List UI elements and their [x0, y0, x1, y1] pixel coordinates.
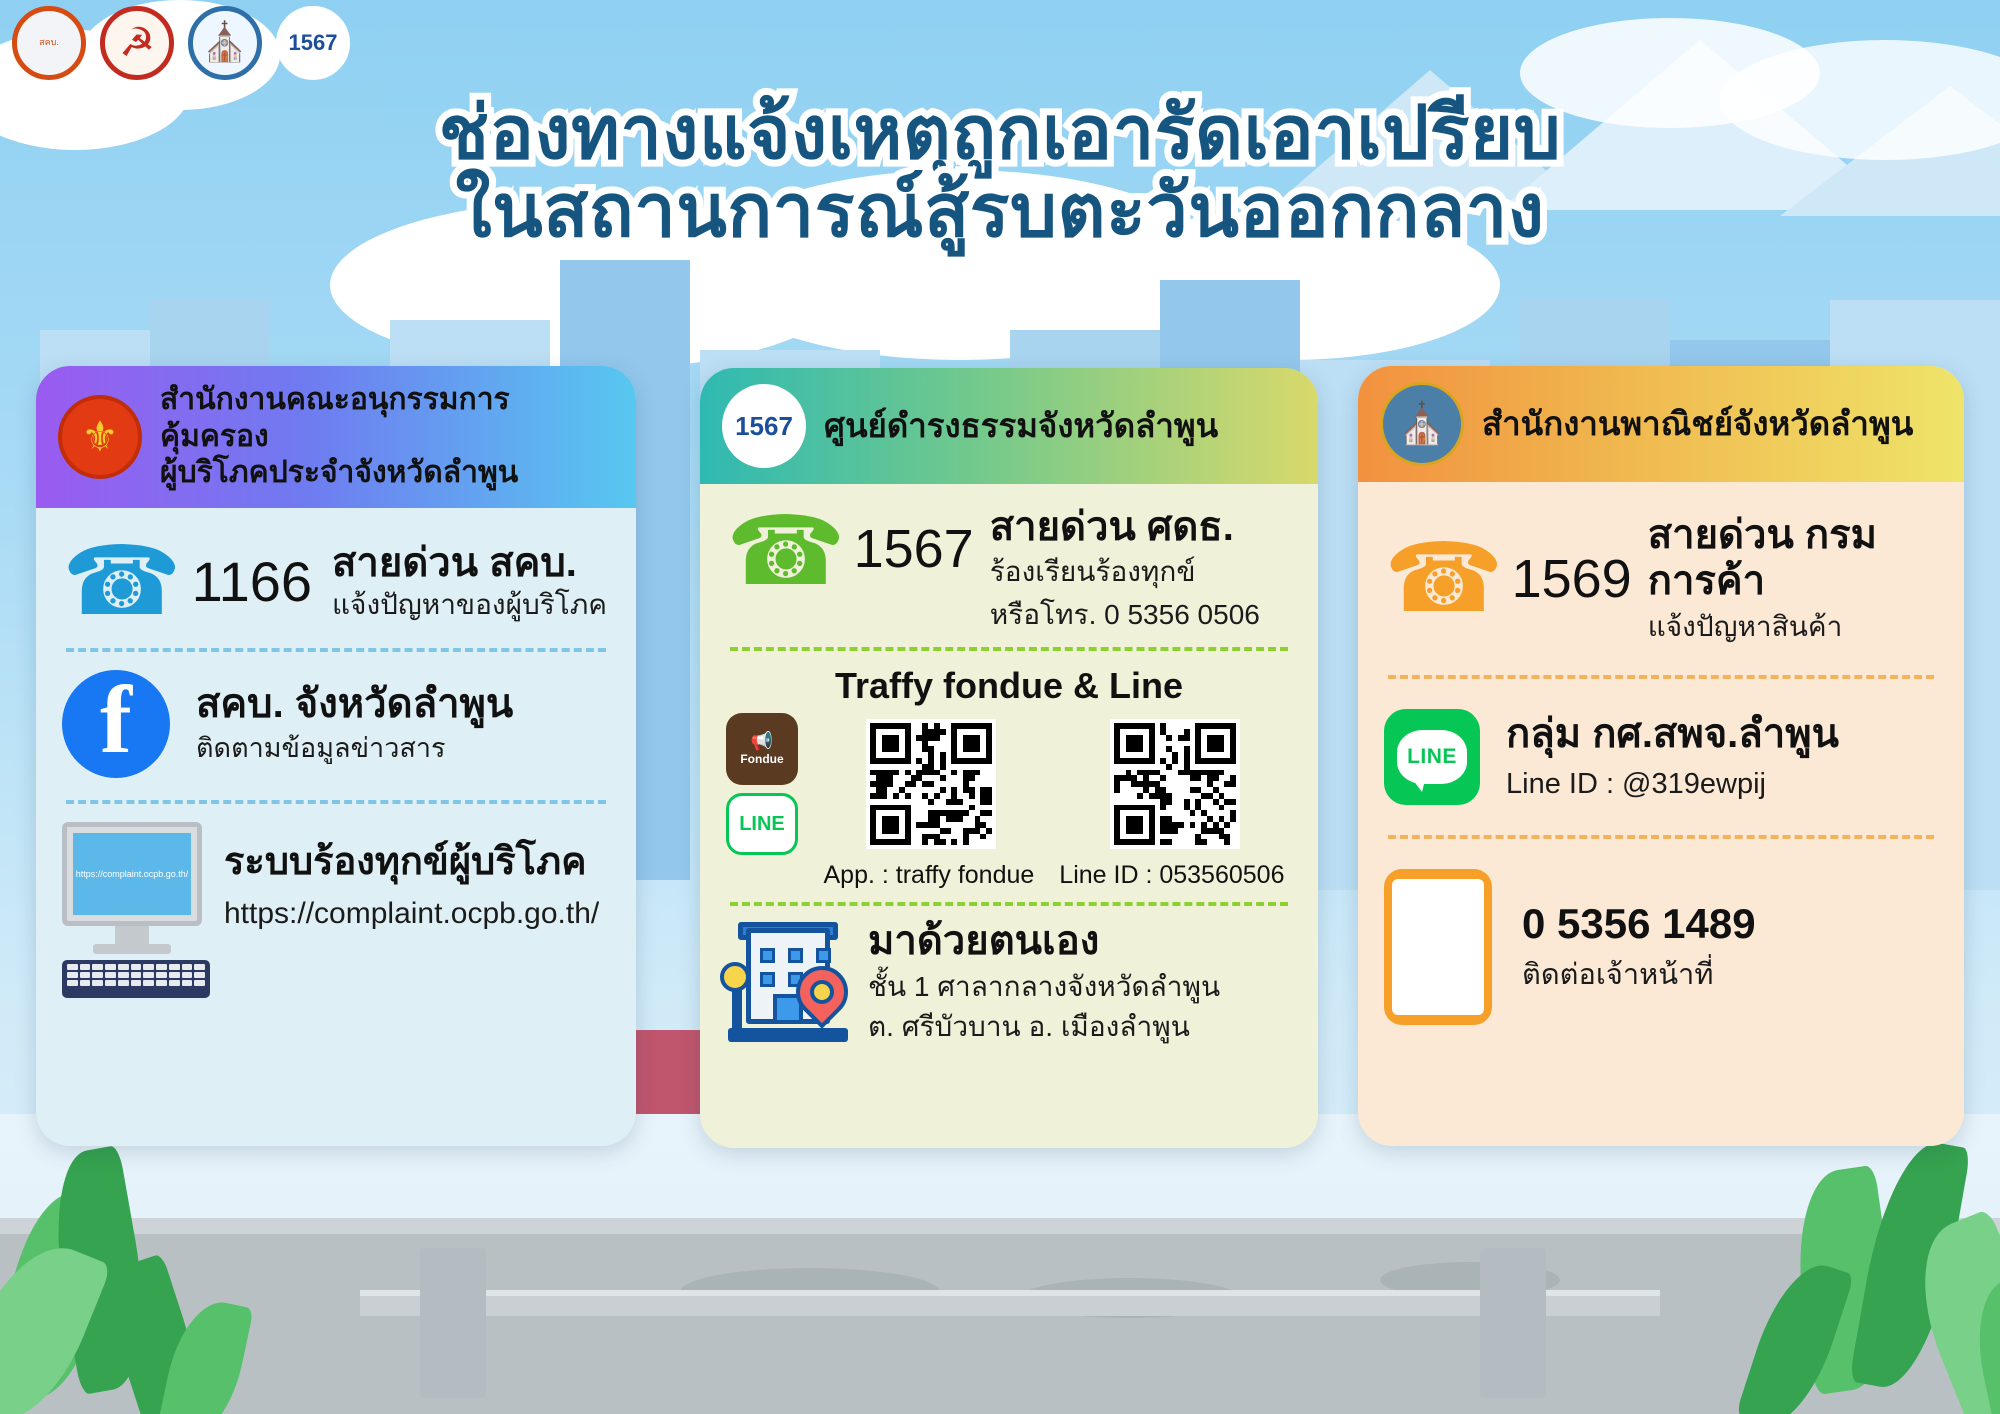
card-commerce-divider-2 — [1388, 835, 1934, 839]
damrongtham-hotline-sub2: หรือโทร. 0 5356 0506 — [990, 597, 1292, 633]
ocpb-website-row[interactable]: https://complaint.ocpb.go.th/ ระบบร้องทุ… — [62, 822, 610, 998]
line-app-icon: LINE — [726, 793, 798, 855]
card-commerce-title: สำนักงานพาณิชย์จังหวัดลำพูน — [1482, 404, 1913, 444]
ocpb-hotline-text: สายด่วน สคบ. แจ้งปัญหาของผู้บริโภค — [332, 540, 610, 623]
garuda-red-seal-logo: ☭ — [100, 6, 174, 80]
card-commerce-title-line-1: สำนักงานพาณิชย์จังหวัดลำพูน — [1482, 404, 1913, 444]
damrongtham-traffy-head: Traffy fondue & Line — [726, 665, 1292, 707]
card-damrongtham-body: ☎ 1567 สายด่วน ศดธ. ร้องเรียนร้องทุกข์ ห… — [700, 484, 1318, 1065]
card-commerce[interactable]: ⛪ สำนักงานพาณิชย์จังหวัดลำพูน ☎ 1569 สาย… — [1358, 366, 1964, 1146]
damrongtham-1567-logo-label: 1567 — [289, 31, 338, 54]
ocpb-website-text: ระบบร้องทุกข์ผู้บริโภค https://complaint… — [224, 822, 610, 933]
damrongtham-hotline-sub: ร้องเรียนร้องทุกข์ — [990, 554, 1292, 590]
card-ocpb-header: ⚜ สำนักงานคณะอนุกรรมการคุ้มครอง ผู้บริโภ… — [36, 366, 636, 508]
card-damrongtham-divider-2 — [730, 902, 1288, 906]
line-app-icon: LINE — [1384, 709, 1480, 805]
damrongtham-traffy-row[interactable]: Traffy fondue & Line 📢 Fondue LINE — [726, 665, 1292, 890]
ocpb-seal-logo-label: สคบ. — [39, 38, 59, 47]
ocpb-seal-icon: ⚜ — [58, 395, 142, 479]
ocpb-hotline-sub: แจ้งปัญหาของผู้บริโภค — [332, 587, 610, 623]
agency-logo-row: สคบ. ☭ ⛪ 1567 — [12, 6, 350, 80]
card-damrongtham[interactable]: 1567 ศูนย์ดำรงธรรมจังหวัดลำพูน ☎ 1567 สา… — [700, 368, 1318, 1148]
commerce-line-row[interactable]: LINE กลุ่ม กศ.สพจ.ลำพูน Line ID : @319ew… — [1384, 709, 1938, 805]
card-damrongtham-header: 1567 ศูนย์ดำรงธรรมจังหวัดลำพูน — [700, 368, 1318, 484]
damrongtham-walkin-sub: ชั้น 1 ศาลากลางจังหวัดลำพูน — [868, 969, 1292, 1005]
traffy-app-icons: 📢 Fondue LINE — [726, 713, 798, 855]
road-surface — [0, 1234, 2000, 1414]
guard-rail-post — [1480, 1248, 1546, 1398]
commerce-hotline-row[interactable]: ☎ 1569 สายด่วน กรมการค้า แจ้งปัญหาสินค้า — [1384, 512, 1938, 645]
commerce-hotline-head: สายด่วน กรมการค้า — [1648, 512, 1938, 605]
commerce-line-id: Line ID : @319ewpij — [1506, 766, 1938, 804]
guard-rail-bar — [360, 1290, 1660, 1316]
garuda-glyph-icon: ☭ — [119, 23, 155, 63]
mobile-phone-icon — [1384, 869, 1492, 1025]
commerce-hotline-text: สายด่วน กรมการค้า แจ้งปัญหาสินค้า — [1648, 512, 1938, 645]
damrongtham-hotline-head: สายด่วน ศดธ. — [990, 504, 1292, 550]
facebook-icon — [62, 670, 170, 778]
commerce-hotline-number: 1569 — [1512, 548, 1632, 610]
traffy-fondue-icon: 📢 Fondue — [726, 713, 798, 785]
monitor-screen-url: https://complaint.ocpb.go.th/ — [73, 833, 191, 915]
phone-handset-icon: ☎ — [1384, 531, 1504, 627]
ocpb-website-head: ระบบร้องทุกข์ผู้บริโภค — [224, 840, 610, 884]
card-commerce-header: ⛪ สำนักงานพาณิชย์จังหวัดลำพูน — [1358, 366, 1964, 482]
damrongtham-walkin-text: มาด้วยตนเอง ชั้น 1 ศาลากลางจังหวัดลำพูน … — [868, 918, 1292, 1045]
ocpb-hotline-head: สายด่วน สคบ. — [332, 540, 610, 586]
ocpb-facebook-head: สคบ. จังหวัดลำพูน — [196, 681, 610, 727]
commerce-phone-sub: ติดต่อเจ้าหน้าที่ — [1522, 957, 1938, 995]
commerce-phone-number: 0 5356 1489 — [1522, 900, 1938, 949]
province-glyph-icon: ⛪ — [201, 24, 248, 62]
card-ocpb-title: สำนักงานคณะอนุกรรมการคุ้มครอง ผู้บริโภคป… — [160, 382, 616, 492]
qr-code-pair — [814, 719, 1292, 849]
infographic-canvas: สคบ. ☭ ⛪ 1567 ช่องทางแจ้งเหตุถูกเอารัดเอ… — [0, 0, 2000, 1414]
ocpb-facebook-text: สคบ. จังหวัดลำพูน ติดตามข้อมูลข่าวสาร — [196, 681, 610, 766]
card-ocpb[interactable]: ⚜ สำนักงานคณะอนุกรรมการคุ้มครอง ผู้บริโภ… — [36, 366, 636, 1146]
commerce-phone-row[interactable]: 0 5356 1489 ติดต่อเจ้าหน้าที่ — [1384, 869, 1938, 1025]
lamphun-province-seal-logo: ⛪ — [188, 6, 262, 80]
damrongtham-hotline-text: สายด่วน ศดธ. ร้องเรียนร้องทุกข์ หรือโทร.… — [990, 504, 1292, 633]
damrongtham-walkin-row[interactable]: มาด้วยตนเอง ชั้น 1 ศาลากลางจังหวัดลำพูน … — [726, 918, 1292, 1045]
damrongtham-1567-logo: 1567 — [276, 6, 350, 80]
damrongtham-hotline-number: 1567 — [854, 518, 974, 580]
commerce-hotline-sub: แจ้งปัญหาสินค้า — [1648, 609, 1938, 645]
card-ocpb-body: ☎ 1166 สายด่วน สคบ. แจ้งปัญหาของผู้บริโภ… — [36, 508, 636, 1018]
page-title: ช่องทางแจ้งเหตุถูกเอารัดเอาเปรียบ ในสถาน… — [0, 96, 2000, 253]
phone-handset-icon: ☎ — [726, 504, 846, 600]
desktop-computer-icon: https://complaint.ocpb.go.th/ — [62, 822, 202, 998]
card-ocpb-title-line-1: สำนักงานคณะอนุกรรมการคุ้มครอง — [160, 382, 616, 455]
page-title-line-1: ช่องทางแจ้งเหตุถูกเอารัดเอาเปรียบ — [0, 96, 2000, 170]
ocpb-facebook-sub: ติดตามข้อมูลข่าวสาร — [196, 731, 610, 766]
qr-traffy-caption: App. : traffy fondue — [824, 861, 1035, 890]
damrongtham-walkin-head: มาด้วยตนเอง — [868, 918, 1292, 964]
qr-line-caption: Line ID : 053560506 — [1059, 861, 1284, 890]
office-building-location-icon — [726, 922, 850, 1042]
ocpb-seal-logo: สคบ. — [12, 6, 86, 80]
card-commerce-divider-1 — [1388, 675, 1934, 679]
damrongtham-hotline-row[interactable]: ☎ 1567 สายด่วน ศดธ. ร้องเรียนร้องทุกข์ ห… — [726, 504, 1292, 633]
ocpb-hotline-row[interactable]: ☎ 1166 สายด่วน สคบ. แจ้งปัญหาของผู้บริโภ… — [62, 534, 610, 630]
lamphun-province-seal-icon: ⛪ — [1380, 382, 1464, 466]
card-damrongtham-title-line-1: ศูนย์ดำรงธรรมจังหวัดลำพูน — [824, 406, 1218, 446]
card-damrongtham-title: ศูนย์ดำรงธรรมจังหวัดลำพูน — [824, 406, 1218, 446]
card-ocpb-divider-1 — [66, 648, 606, 652]
card-commerce-body: ☎ 1569 สายด่วน กรมการค้า แจ้งปัญหาสินค้า… — [1358, 482, 1964, 1045]
page-title-line-2: ในสถานการณ์สู้รบตะวันออกกลาง — [0, 170, 2000, 253]
keyboard-icon — [62, 960, 210, 998]
commerce-line-head: กลุ่ม กศ.สพจ.ลำพูน — [1506, 711, 1938, 757]
commerce-phone-text: 0 5356 1489 ติดต่อเจ้าหน้าที่ — [1522, 900, 1938, 994]
qr-code-line[interactable] — [1110, 719, 1240, 849]
damrongtham-traffy-content: 📢 Fondue LINE — [726, 713, 1292, 855]
guard-rail-post — [420, 1248, 486, 1398]
qr-code-traffy[interactable] — [866, 719, 996, 849]
damrongtham-1567-icon: 1567 — [722, 384, 806, 468]
qr-traffy-block — [866, 719, 996, 849]
damrongtham-walkin-sub2: ต. ศรีบัวบาน อ. เมืองลำพูน — [868, 1009, 1292, 1045]
ocpb-website-url[interactable]: https://complaint.ocpb.go.th/ — [224, 894, 610, 933]
card-ocpb-divider-2 — [66, 800, 606, 804]
commerce-line-text: กลุ่ม กศ.สพจ.ลำพูน Line ID : @319ewpij — [1506, 711, 1938, 803]
ocpb-facebook-row[interactable]: สคบ. จังหวัดลำพูน ติดตามข้อมูลข่าวสาร — [62, 670, 610, 778]
card-ocpb-title-line-2: ผู้บริโภคประจำจังหวัดลำพูน — [160, 455, 616, 492]
ocpb-hotline-number: 1166 — [192, 549, 312, 614]
qr-captions: App. : traffy fondue Line ID : 053560506 — [726, 861, 1292, 890]
qr-line-block — [1110, 719, 1240, 849]
card-damrongtham-divider-1 — [730, 647, 1288, 651]
phone-handset-icon: ☎ — [62, 534, 182, 630]
